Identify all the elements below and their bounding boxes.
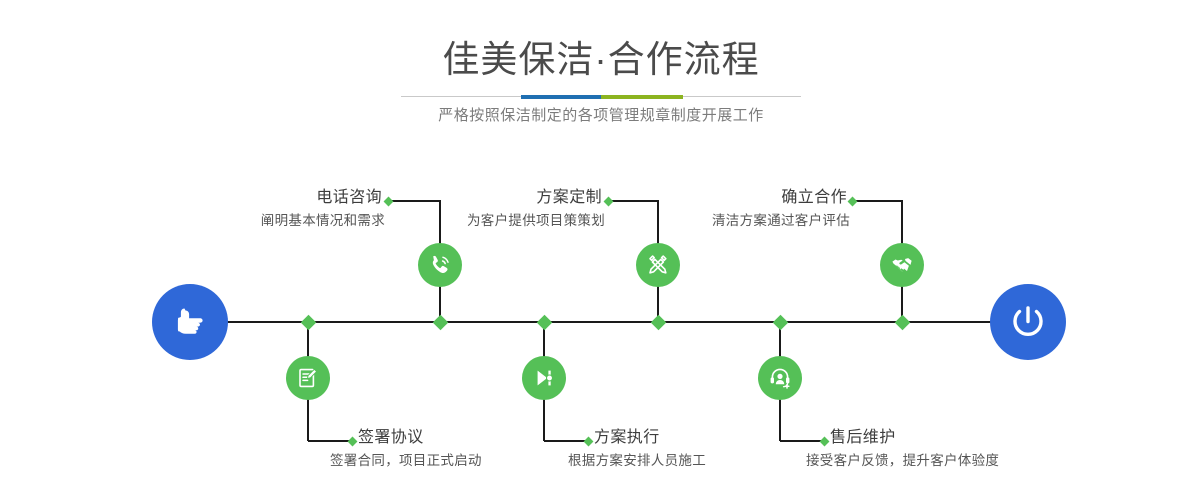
axis-marker	[300, 314, 316, 330]
divider-segment-green	[601, 95, 683, 99]
process-flow-diagram: 电话咨询 阐明基本情况和需求 方案定制 为客户提供项目策策划	[0, 150, 1202, 502]
step-after-sales-node[interactable]	[758, 356, 802, 400]
axis-marker	[772, 314, 788, 330]
branch-elbow	[852, 200, 903, 202]
flow-end-node[interactable]	[990, 284, 1066, 360]
branch-bullet	[603, 196, 613, 206]
step-phone-consult-desc: 阐明基本情况和需求	[140, 212, 385, 230]
headset-support-icon	[767, 365, 793, 391]
phone-call-icon	[427, 252, 453, 278]
handshake-icon	[889, 252, 915, 278]
step-plan-execute-label: 方案执行	[594, 428, 854, 448]
page-header: 佳美保洁·合作流程 严格按照保洁制定的各项管理规章制度开展工作	[0, 0, 1202, 150]
step-sign-agreement-node[interactable]	[286, 356, 330, 400]
branch-elbow	[388, 200, 441, 202]
axis-marker	[536, 314, 552, 330]
step-plan-custom-node[interactable]	[636, 243, 680, 287]
step-plan-custom-desc: 为客户提供项目策策划	[360, 212, 605, 230]
document-edit-icon	[295, 365, 321, 391]
branch-bullet	[347, 436, 357, 446]
branch-elbow	[308, 440, 352, 442]
step-after-sales-label: 售后维护	[830, 428, 1110, 448]
page-subtitle: 严格按照保洁制定的各项管理规章制度开展工作	[0, 105, 1202, 127]
divider-segment-blue	[521, 95, 601, 99]
play-execute-icon	[531, 365, 557, 391]
branch-bullet	[847, 196, 857, 206]
step-establish-coop-label: 确立合作	[640, 188, 847, 208]
step-sign-agreement-label: 签署协议	[358, 428, 618, 448]
page-title: 佳美保洁·合作流程	[0, 38, 1202, 82]
step-plan-custom-label: 方案定制	[390, 188, 602, 208]
pointing-hand-icon	[170, 302, 210, 342]
step-plan-execute-node[interactable]	[522, 356, 566, 400]
branch-elbow	[544, 440, 588, 442]
title-divider	[401, 95, 801, 99]
pencil-ruler-icon	[645, 252, 671, 278]
step-phone-consult-label: 电话咨询	[160, 188, 382, 208]
step-after-sales-desc: 接受客户反馈，提升客户体验度	[806, 452, 1126, 470]
step-phone-consult-node[interactable]	[418, 243, 462, 287]
axis-marker	[650, 314, 666, 330]
branch-elbow	[780, 440, 824, 442]
axis-marker	[894, 314, 910, 330]
axis-marker	[432, 314, 448, 330]
branch-elbow	[608, 200, 659, 202]
power-icon	[1007, 301, 1049, 343]
step-establish-coop-desc: 清洁方案通过客户评估	[605, 212, 850, 230]
flow-start-node[interactable]	[152, 284, 228, 360]
step-establish-coop-node[interactable]	[880, 243, 924, 287]
